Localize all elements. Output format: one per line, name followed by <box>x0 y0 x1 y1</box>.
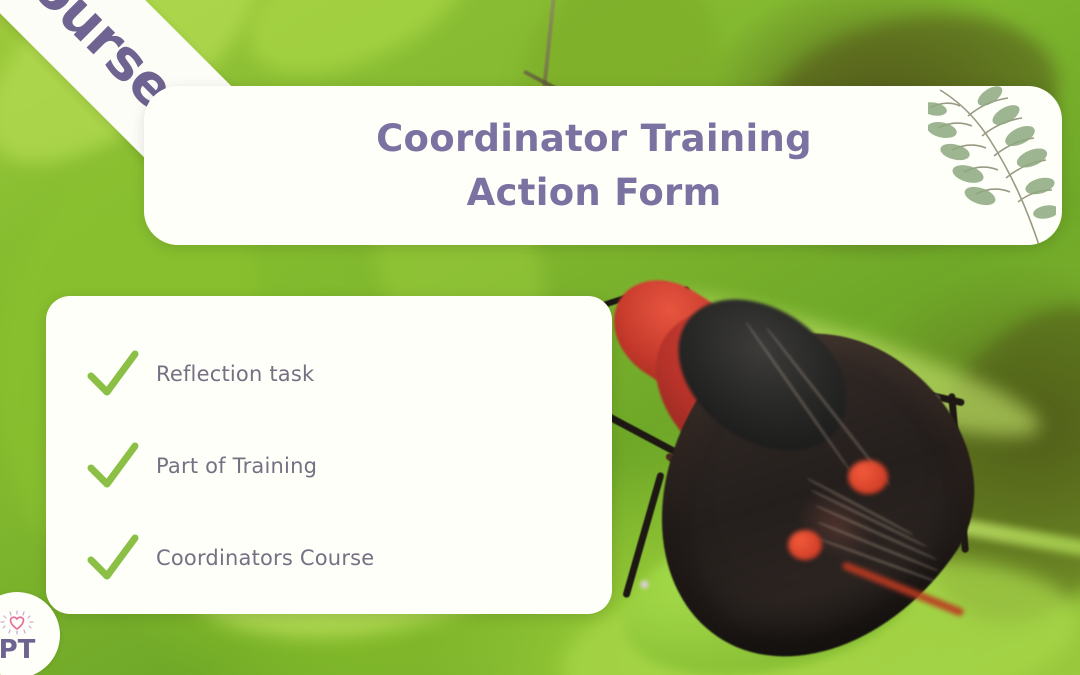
check-mark-icon <box>82 442 144 490</box>
list-item[interactable]: Part of Training <box>82 420 612 512</box>
bug-red-spot <box>788 530 822 560</box>
page-title-line-2: Action Form <box>376 166 812 220</box>
boxelder-bug <box>600 255 1080 675</box>
bug-red-spot <box>848 460 888 494</box>
checklist-card: Reflection task Part of Training Coordin… <box>46 296 612 614</box>
olive-branch-icon <box>928 86 1056 245</box>
list-item[interactable]: Reflection task <box>82 328 612 420</box>
check-mark-icon <box>82 534 144 582</box>
bug-leg-joint <box>640 580 649 589</box>
list-item-label: Part of Training <box>144 454 317 478</box>
check-mark-icon <box>82 350 144 398</box>
list-item-label: Coordinators Course <box>144 546 374 570</box>
logo-label: PT <box>0 637 35 663</box>
list-item[interactable]: Coordinators Course <box>82 512 612 604</box>
page-title-line-1: Coordinator Training <box>376 117 812 160</box>
title-card: Coordinator Training Action Form <box>144 86 1062 245</box>
page-title: Coordinator Training Action Form <box>376 112 830 219</box>
list-item-label: Reflection task <box>144 362 314 386</box>
heart-with-rays-icon <box>0 610 37 636</box>
